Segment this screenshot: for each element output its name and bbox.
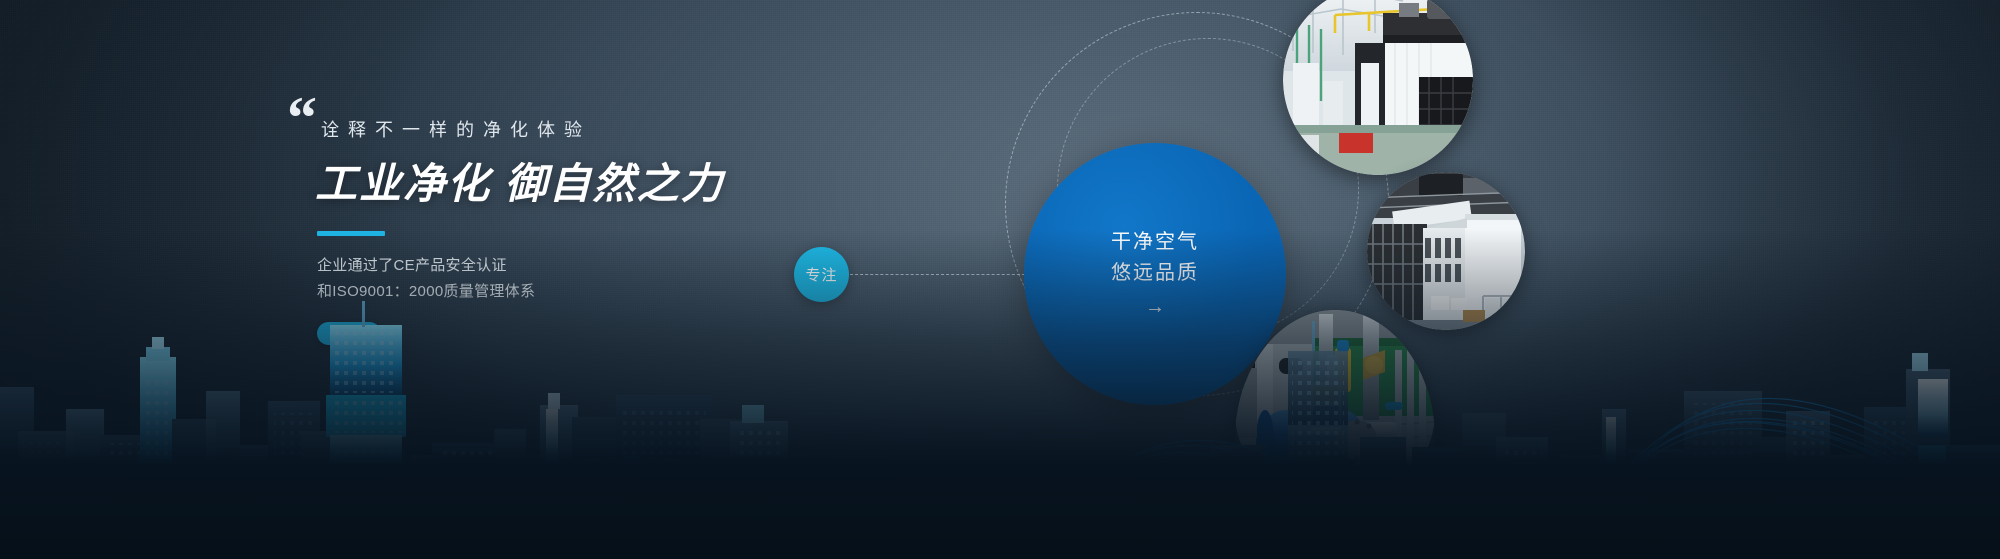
banner-subtitle: 诠释不一样的净化体验 xyxy=(287,96,847,142)
banner-headline: 工业净化 御自然之力 xyxy=(287,142,847,211)
main-circle-line-1: 干净空气 xyxy=(1111,227,1199,258)
hero-banner: “ 诠释不一样的净化体验 工业净化 御自然之力 企业通过了CE产品安全认证 和I… xyxy=(0,0,2000,559)
wireframe-city-skyline xyxy=(0,259,2000,559)
quote-mark-icon: “ xyxy=(287,96,315,141)
